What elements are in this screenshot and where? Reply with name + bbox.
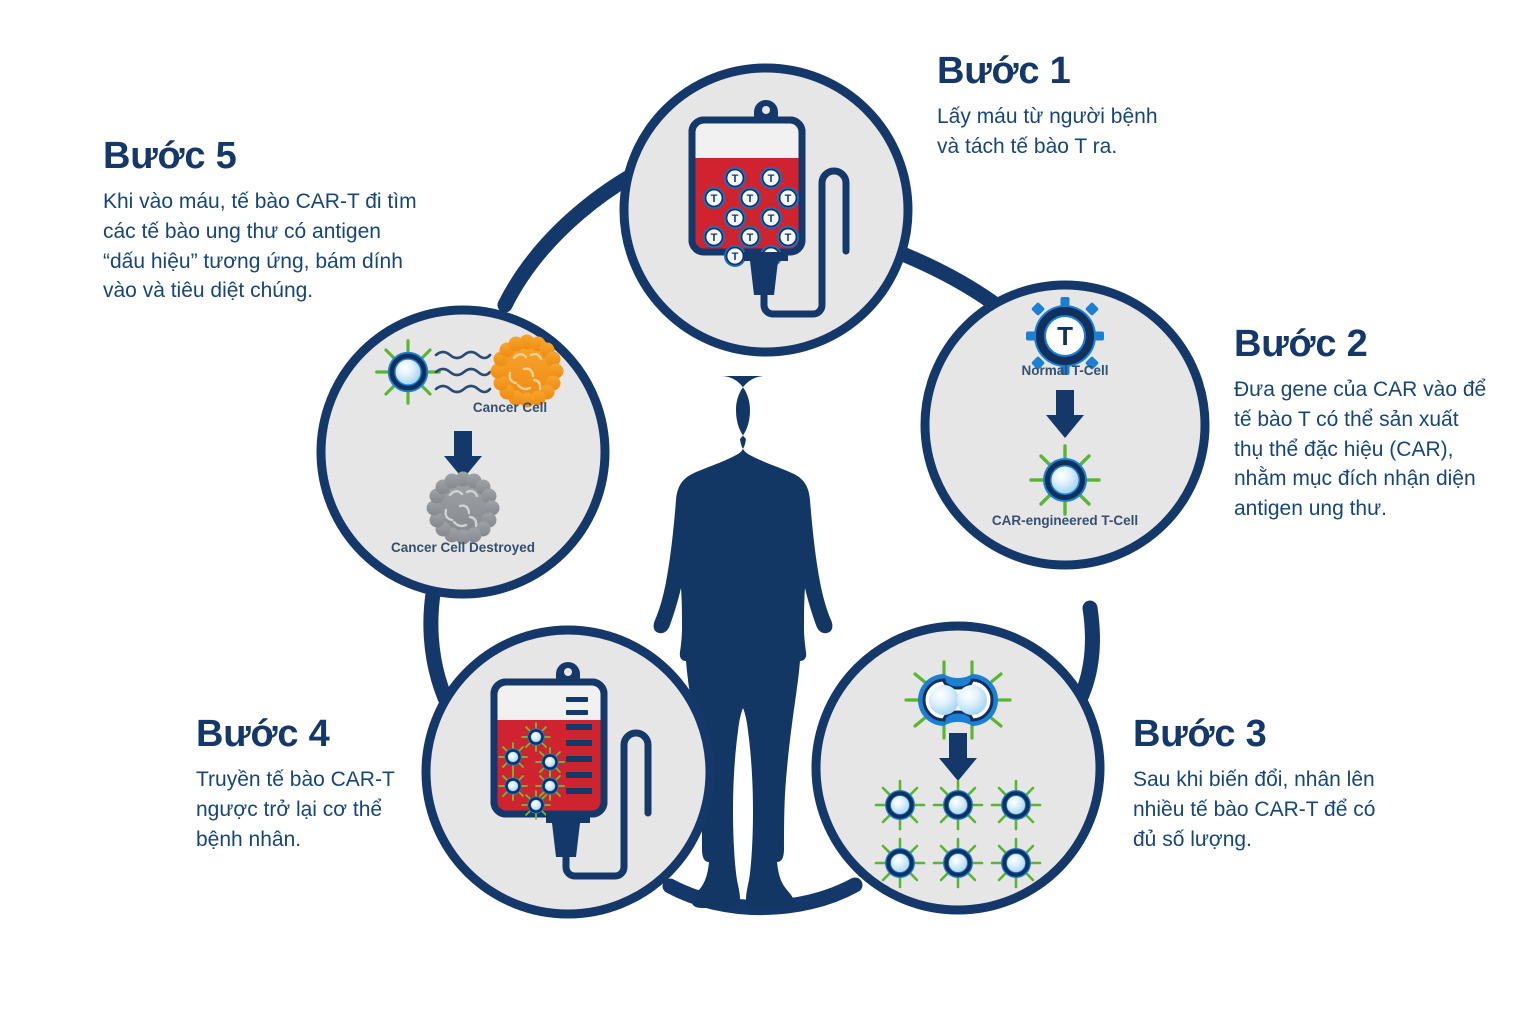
svg-text:T: T	[785, 193, 792, 205]
step-1-text-block: Bước 1 Lấy máu từ người bệnh và tách tế …	[937, 52, 1158, 162]
step-5-text-block: Bước 5 Khi vào máu, tế bào CAR-T đi tìm …	[103, 137, 417, 306]
step-2-illustration-circle: T Normal T-Cell CAR-engineered T-Cell	[925, 285, 1205, 565]
step-2-body-line: thụ thể đặc hiệu (CAR),	[1234, 435, 1486, 465]
svg-text:T: T	[711, 193, 718, 205]
car-engineered-t-cell-icon	[1031, 446, 1099, 514]
step-2-body-line: tế bào T có thể sản xuất	[1234, 405, 1486, 435]
step-4-text-block: Bước 4 Truyền tế bào CAR-T ngược trở lại…	[196, 715, 395, 854]
step-3-text-block: Bước 3 Sau khi biến đổi, nhân lên nhiều …	[1133, 715, 1375, 854]
step-1-title: Bước 1	[937, 52, 1158, 92]
infographic-canvas: TT TTT TT TTT TT	[0, 0, 1524, 1016]
step-1-illustration-circle: TT TTT TT TTT TT	[624, 68, 908, 352]
svg-text:T: T	[711, 232, 718, 244]
step-3-title: Bước 3	[1133, 715, 1375, 755]
svg-text:T: T	[785, 232, 792, 244]
step-5-body-line: các tế bào ung thư có antigen	[103, 217, 417, 247]
svg-text:T: T	[768, 173, 775, 185]
step-4-body: Truyền tế bào CAR-T ngược trở lại cơ thể…	[196, 765, 395, 854]
car-engineered-t-cell-label: CAR-engineered T-Cell	[992, 513, 1138, 528]
cancer-cell-label: Cancer Cell	[473, 400, 547, 415]
step-3-body: Sau khi biến đổi, nhân lên nhiều tế bào …	[1133, 765, 1375, 854]
step-2-body-line: antigen ung thư.	[1234, 494, 1486, 524]
step-5-illustration-circle: Cancer Cell	[321, 310, 605, 594]
step-4-body-line: ngược trở lại cơ thể	[196, 795, 395, 825]
step-2-title: Bước 2	[1234, 325, 1486, 365]
step-4-illustration-circle	[426, 630, 710, 914]
step-5-title: Bước 5	[103, 137, 417, 177]
cancer-cell-destroyed-label: Cancer Cell Destroyed	[391, 540, 535, 555]
attacking-car-t-cell-icon	[377, 341, 440, 404]
step-2-body-line: nhằm mục đích nhận diện	[1234, 464, 1486, 494]
svg-text:T: T	[747, 232, 754, 244]
step-5-body-line: “dấu hiệu” tương ứng, bám dính	[103, 247, 417, 277]
step-3-body-line: Sau khi biến đổi, nhân lên	[1133, 765, 1375, 795]
step-1-body: Lấy máu từ người bệnh và tách tế bào T r…	[937, 102, 1158, 162]
cancer-cell-icon	[491, 335, 564, 408]
step-5-body: Khi vào máu, tế bào CAR-T đi tìm các tế …	[103, 187, 417, 306]
svg-text:T: T	[1057, 321, 1073, 351]
step-1-body-line: và tách tế bào T ra.	[937, 132, 1158, 162]
normal-t-cell-label: Normal T-Cell	[1021, 363, 1108, 378]
step-5-body-line: Khi vào máu, tế bào CAR-T đi tìm	[103, 187, 417, 217]
step-4-title: Bước 4	[196, 715, 395, 755]
step-3-body-line: đủ số lượng.	[1133, 825, 1375, 855]
svg-text:T: T	[768, 213, 775, 225]
step-3-illustration-circle	[816, 626, 1100, 910]
step-3-body-line: nhiều tế bào CAR-T để có	[1133, 795, 1375, 825]
svg-text:T: T	[732, 251, 739, 263]
step-5-body-line: vào và tiêu diệt chúng.	[103, 276, 417, 306]
destroyed-cancer-cell-icon	[427, 472, 500, 545]
step-2-body: Đưa gene của CAR vào để tế bào T có thể …	[1234, 375, 1486, 524]
step-1-body-line: Lấy máu từ người bệnh	[937, 102, 1158, 132]
step-2-body-line: Đưa gene của CAR vào để	[1234, 375, 1486, 405]
step-2-text-block: Bước 2 Đưa gene của CAR vào để tế bào T …	[1234, 325, 1486, 524]
svg-text:T: T	[732, 213, 739, 225]
step-4-body-line: bệnh nhân.	[196, 825, 395, 855]
svg-text:T: T	[732, 173, 739, 185]
svg-text:T: T	[747, 193, 754, 205]
step-4-body-line: Truyền tế bào CAR-T	[196, 765, 395, 795]
